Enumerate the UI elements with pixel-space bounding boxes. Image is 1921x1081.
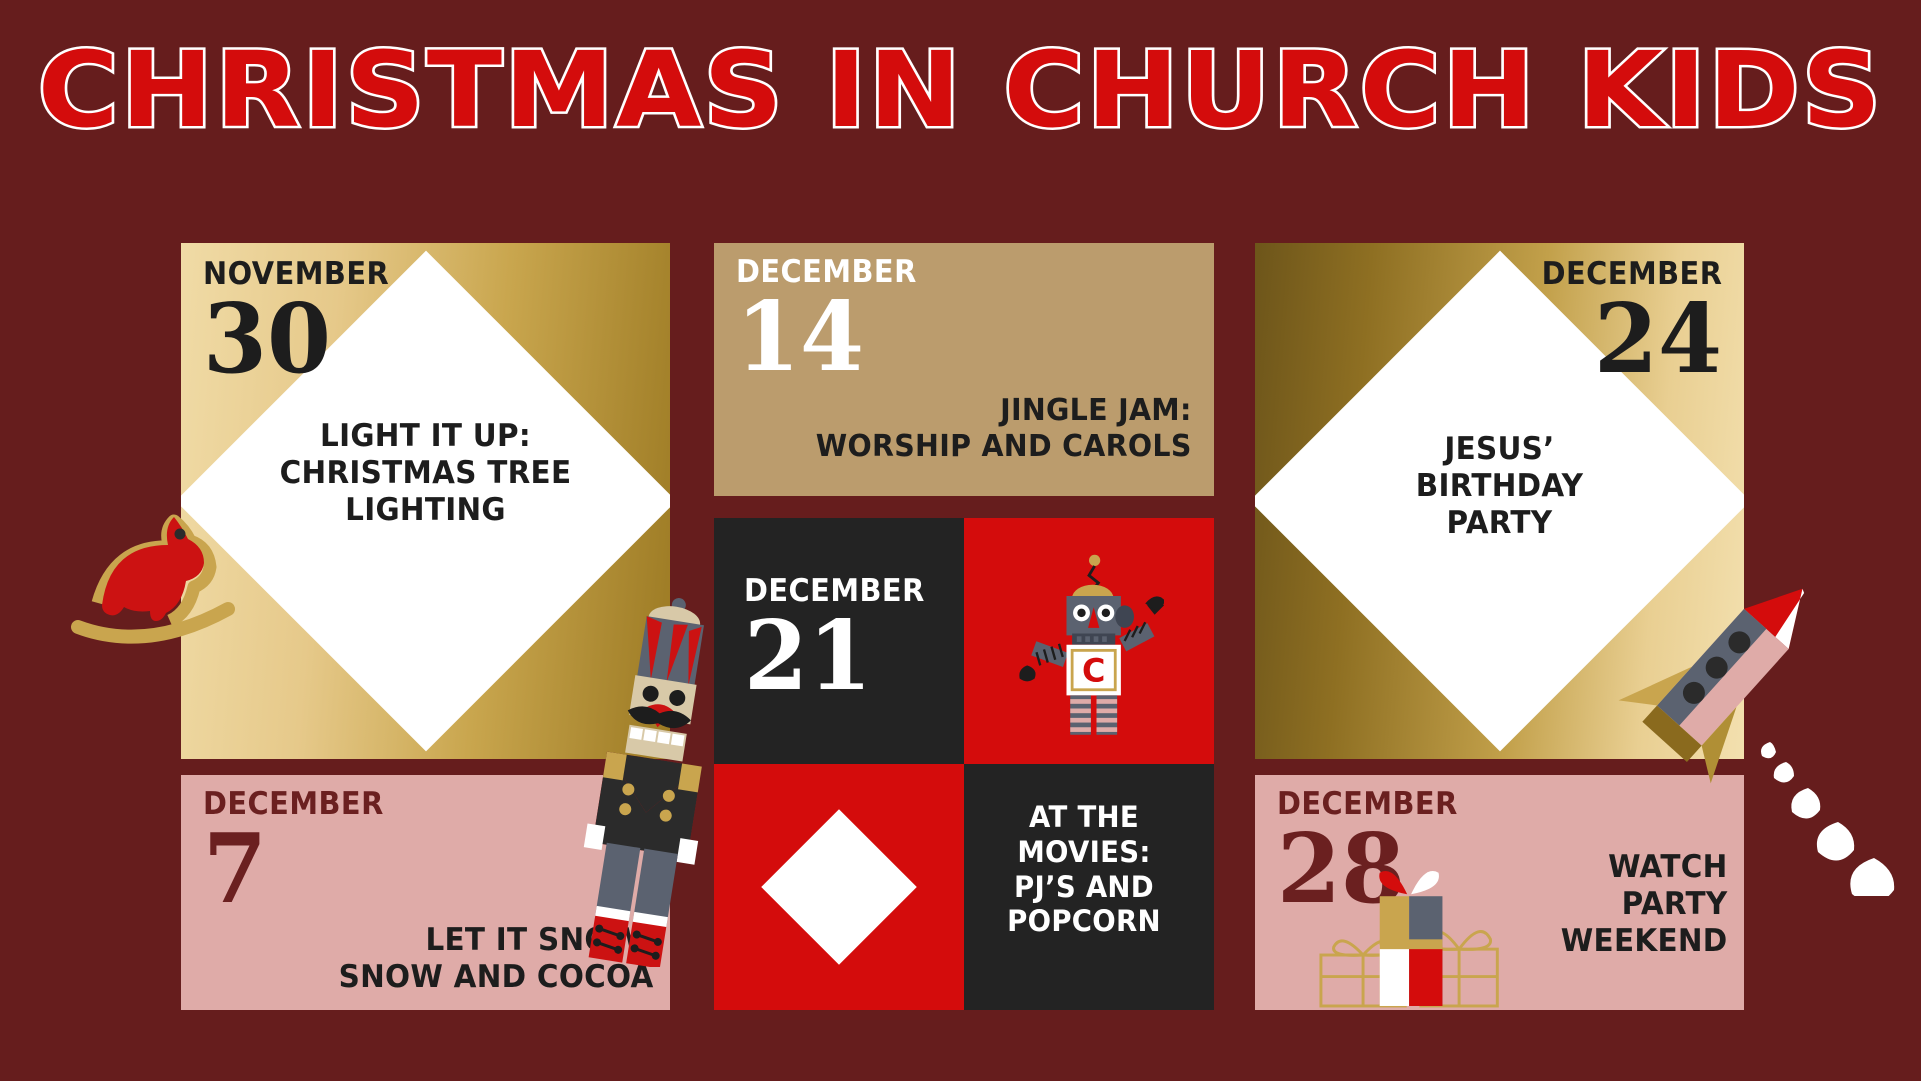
toy-rocket-icon — [1618, 566, 1918, 896]
date-block-dec-21: DECEMBER 21 — [744, 576, 938, 698]
event-day: 30 — [203, 294, 403, 385]
date-block-nov-30: NOVEMBER 30 — [203, 259, 403, 381]
diamond-shape — [761, 809, 917, 965]
quad-cell-title: AT THE MOVIES: PJ’S AND POPCORN — [964, 764, 1214, 1010]
event-title-nov-30: LIGHT IT UP: CHRISTMAS TREE LIGHTING — [193, 418, 658, 530]
gift-stack-icon — [1317, 853, 1513, 1010]
event-day: 14 — [736, 292, 930, 383]
event-day: 24 — [1528, 294, 1722, 385]
toy-robot-icon: C — [1014, 547, 1164, 735]
page-title: CHRISTMAS IN CHURCH KIDS — [0, 38, 1921, 142]
event-title-dec-21: AT THE MOVIES: PJ’S AND POPCORN — [970, 800, 1198, 939]
event-title-dec-14: JINGLE JAM: WORSHIP AND CAROLS — [816, 393, 1192, 465]
date-block-dec-7: DECEMBER 7 — [203, 789, 397, 911]
poster-canvas: CHRISTMAS IN CHURCH KIDS NOVEMBER 30 LIG… — [0, 0, 1921, 1081]
nutcracker-soldier-icon — [566, 582, 726, 967]
rocking-horse-icon — [58, 487, 248, 647]
event-title-dec-24: JESUS’ BIRTHDAY PARTY — [1267, 431, 1732, 543]
event-card-dec-14[interactable]: DECEMBER 14 JINGLE JAM: WORSHIP AND CARO… — [714, 243, 1214, 496]
event-card-dec-21[interactable]: DECEMBER 21 — [714, 518, 1214, 1010]
event-day: 7 — [203, 824, 397, 915]
date-block-dec-14: DECEMBER 14 — [736, 257, 930, 379]
svg-text:C: C — [1082, 651, 1105, 689]
quad-cell-date: DECEMBER 21 — [714, 518, 964, 764]
quad-cell-robot: C — [964, 518, 1214, 764]
date-block-dec-24: DECEMBER 24 — [1528, 259, 1722, 381]
event-day: 21 — [744, 611, 938, 702]
quad-cell-diamond — [714, 764, 964, 1010]
